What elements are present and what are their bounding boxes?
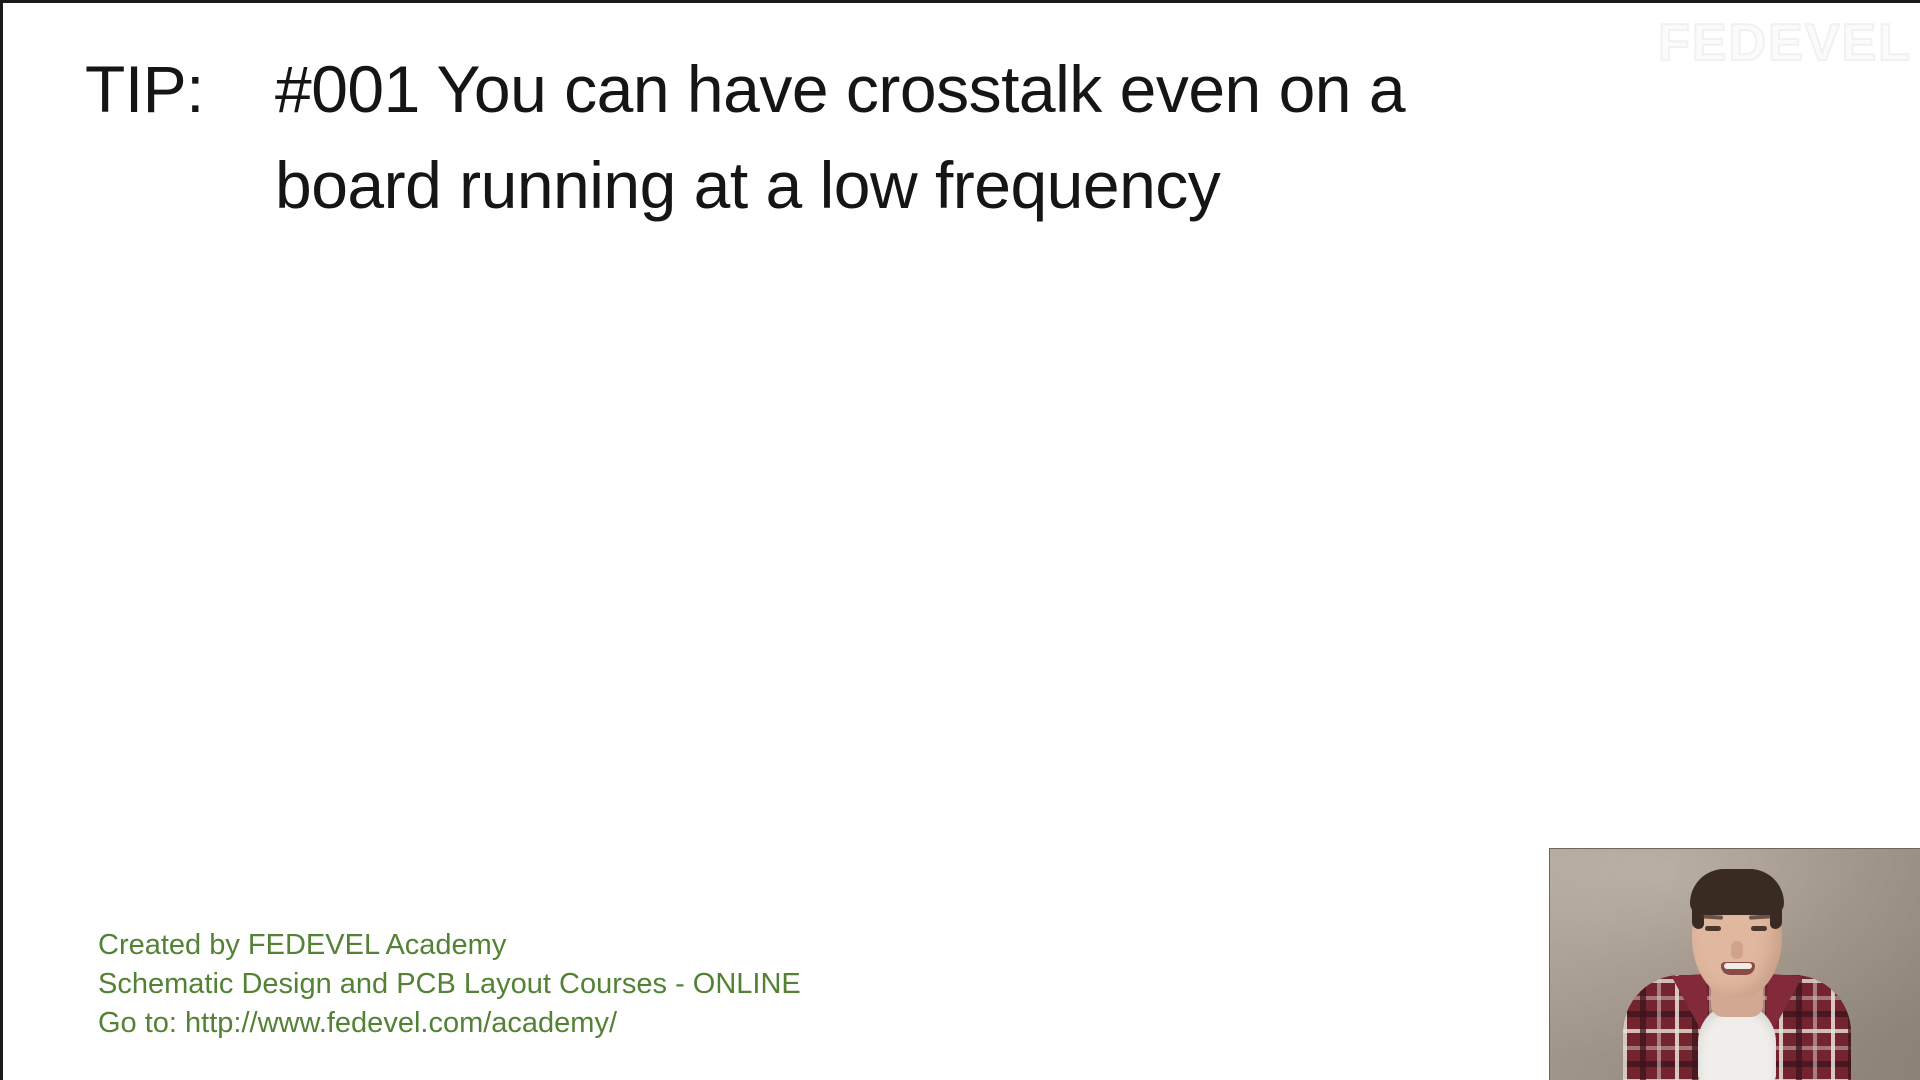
presenter-mouth — [1721, 962, 1755, 975]
presenter-webcam-overlay[interactable] — [1549, 848, 1920, 1080]
credits-line-website[interactable]: Go to: http://www.fedevel.com/academy/ — [98, 1004, 801, 1043]
credits-line-created-by: Created by FEDEVEL Academy — [98, 926, 801, 965]
tip-label: TIP: — [85, 41, 275, 137]
credits-block: Created by FEDEVEL Academy Schematic Des… — [98, 926, 801, 1043]
slide-title-block: TIP: #001 You can have crosstalk even on… — [85, 41, 1725, 233]
credits-line-courses: Schematic Design and PCB Layout Courses … — [98, 965, 801, 1004]
presentation-slide: FEDEVEL TIP: #001 You can have crosstalk… — [0, 0, 1920, 1080]
title-line-1: #001 You can have crosstalk even on a — [275, 41, 1725, 137]
presenter-nose — [1731, 941, 1743, 959]
title-line-2-row: board running at a low frequency — [85, 137, 1725, 233]
eye-left — [1705, 926, 1721, 931]
presenter-hair — [1690, 869, 1784, 915]
title-line-1-row: TIP: #001 You can have crosstalk even on… — [85, 41, 1725, 137]
presenter-figure — [1622, 873, 1852, 1080]
eye-right — [1751, 926, 1767, 931]
title-line-2: board running at a low frequency — [275, 137, 1725, 233]
